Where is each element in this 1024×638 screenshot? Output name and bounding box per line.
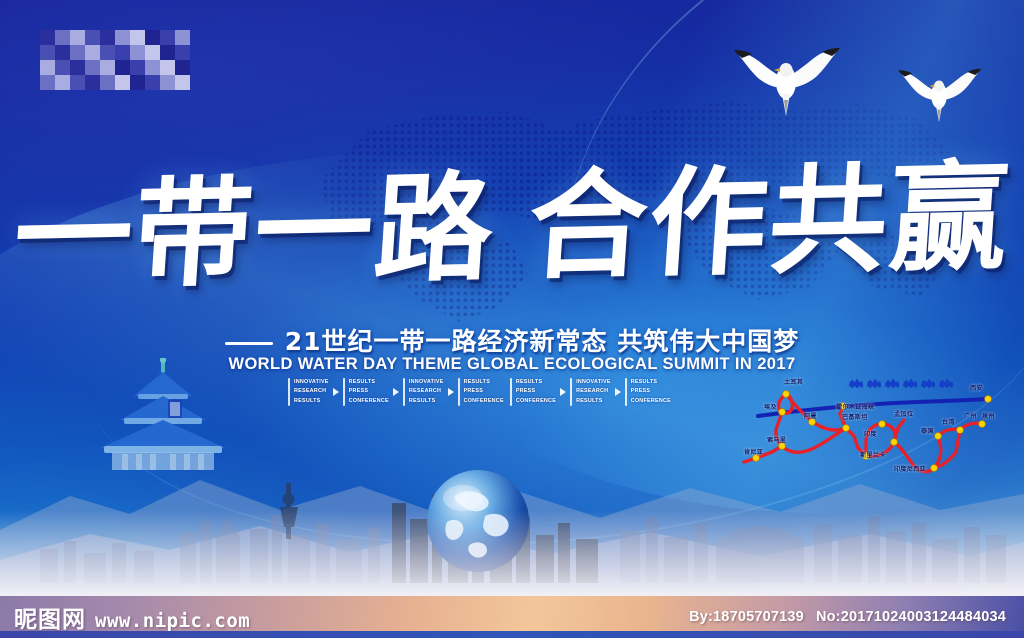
camel-caravan-icon xyxy=(848,378,953,388)
map-city-label: 埃及 xyxy=(764,402,777,411)
map-city-label: 泰国 xyxy=(921,426,934,435)
mosaic-tile xyxy=(40,30,55,45)
chip-bar xyxy=(570,378,572,406)
chip-label: RESULTSPRESSCONFERENCE xyxy=(516,378,556,406)
seagull-icon xyxy=(730,48,842,120)
process-chip: RESULTSPRESSCONFERENCE xyxy=(458,378,504,406)
mosaic-tile xyxy=(115,75,130,90)
chip-label-line: RESULTS xyxy=(516,378,556,387)
footer-watermark-bar: 昵图网 www.nipic.com By:18705707139 No:2017… xyxy=(0,596,1024,638)
mosaic-tile xyxy=(40,45,55,60)
mosaic-tile xyxy=(55,45,70,60)
chip-arrow-icon xyxy=(389,388,403,396)
chip-bar xyxy=(510,378,512,406)
mosaic-tile xyxy=(40,60,55,75)
mosaic-tile xyxy=(175,30,190,45)
chip-label-line: PRESS xyxy=(516,387,556,396)
subtitle-dash xyxy=(225,342,273,345)
map-city-label: 肯尼亚 xyxy=(744,447,763,456)
credit-by: By:18705707139 xyxy=(689,609,804,625)
process-chip: RESULTSPRESSCONFERENCE xyxy=(510,378,556,406)
mosaic-tile xyxy=(70,30,85,45)
page-title: 一带一路合作共赢 xyxy=(0,157,1024,296)
process-chip: RESULTSPRESSCONFERENCE xyxy=(343,378,389,406)
watermark-cn-text: 昵图网 xyxy=(14,600,86,634)
globe-illustration xyxy=(425,468,531,574)
process-chip: INNOVATIVERESEARCHRESULTS xyxy=(403,378,444,406)
chip-label-line: RESULTS xyxy=(409,397,444,406)
mosaic-tile xyxy=(85,45,100,60)
process-chip-row: INNOVATIVERESEARCHRESULTSRESULTSPRESSCON… xyxy=(288,377,738,407)
credit-no: No:20171024003124484034 xyxy=(816,609,1006,625)
mosaic-tile xyxy=(70,60,85,75)
map-city-label: 土耳其 xyxy=(784,377,803,386)
chip-label-line: RESULTS xyxy=(576,397,611,406)
map-city-label: 索马里 xyxy=(767,435,786,444)
chip-label-line: CONFERENCE xyxy=(349,397,389,406)
chip-bar xyxy=(625,378,627,406)
silk-road-route-map: 土耳其埃及阿曼索马里肯尼亚霍尔木兹海峡巴基斯坦印度斯里兰卡孟加拉泰国印度尼西亚台… xyxy=(742,370,1024,480)
chip-label: RESULTSPRESSCONFERENCE xyxy=(464,378,504,406)
chip-label-line: RESULTS xyxy=(294,397,329,406)
mosaic-tile xyxy=(40,75,55,90)
pixelated-logo-block xyxy=(40,30,190,90)
temple-of-heaven-illustration xyxy=(78,358,248,480)
mosaic-tile xyxy=(55,60,70,75)
mosaic-tile xyxy=(145,75,160,90)
mosaic-tile xyxy=(115,30,130,45)
map-city-label: 孟加拉 xyxy=(894,409,913,418)
chip-label-line: RESEARCH xyxy=(576,387,611,396)
chip-label: RESULTSPRESSCONFERENCE xyxy=(631,378,671,406)
mosaic-tile xyxy=(160,60,175,75)
chip-label-line: INNOVATIVE xyxy=(409,378,444,387)
map-city-label: 巴基斯坦 xyxy=(842,412,868,421)
chip-arrow-icon xyxy=(329,388,343,396)
site-watermark: 昵图网 www.nipic.com xyxy=(14,600,250,634)
subtitle-chinese-text: 21世纪一带一路经济新常态 共筑伟大中国梦 xyxy=(285,327,800,356)
map-city-label: 广州 xyxy=(964,411,977,420)
mosaic-tile xyxy=(160,30,175,45)
chip-arrow-icon xyxy=(444,388,458,396)
chip-label-line: RESULTS xyxy=(631,378,671,387)
chip-label-line: RESEARCH xyxy=(294,387,329,396)
mosaic-tile xyxy=(130,30,145,45)
chip-label-line: CONFERENCE xyxy=(631,397,671,406)
chip-label-line: PRESS xyxy=(631,387,671,396)
orbit-ring-arc xyxy=(499,0,1024,638)
subtitle-chinese: 21世纪一带一路经济新常态 共筑伟大中国梦 xyxy=(0,322,1024,358)
mosaic-tile xyxy=(130,75,145,90)
chip-label-line: INNOVATIVE xyxy=(576,378,611,387)
chip-label-line: PRESS xyxy=(464,387,504,396)
headline-part-1: 一带一路 xyxy=(10,158,500,306)
chip-bar xyxy=(458,378,460,406)
mosaic-tile xyxy=(70,75,85,90)
mosaic-tile xyxy=(160,75,175,90)
chip-arrow-icon xyxy=(611,388,625,396)
mosaic-tile xyxy=(85,75,100,90)
mosaic-tile xyxy=(145,60,160,75)
mosaic-tile xyxy=(100,60,115,75)
process-chip: INNOVATIVERESEARCHRESULTS xyxy=(570,378,611,406)
chip-label: RESULTSPRESSCONFERENCE xyxy=(349,378,389,406)
process-chip: INNOVATIVERESEARCHRESULTS xyxy=(288,378,329,406)
seagull-icon xyxy=(895,68,983,126)
chip-label-line: INNOVATIVE xyxy=(294,378,329,387)
watermark-url-text: www.nipic.com xyxy=(95,610,250,632)
chip-label: INNOVATIVERESEARCHRESULTS xyxy=(576,378,611,406)
chip-label-line: CONFERENCE xyxy=(464,397,504,406)
mosaic-tile xyxy=(55,75,70,90)
chip-bar xyxy=(403,378,405,406)
map-city-label: 印度 xyxy=(864,429,877,438)
mosaic-tile xyxy=(130,45,145,60)
chip-label-line: PRESS xyxy=(349,387,389,396)
map-city-label: 阿曼 xyxy=(804,411,817,420)
map-city-label: 印度尼西亚 xyxy=(894,464,926,473)
mosaic-tile xyxy=(145,30,160,45)
chip-label-line: RESEARCH xyxy=(409,387,444,396)
chip-bar xyxy=(343,378,345,406)
map-city-label: 斯里兰卡 xyxy=(860,450,886,459)
chip-label: INNOVATIVERESEARCHRESULTS xyxy=(409,378,444,406)
mosaic-tile xyxy=(100,75,115,90)
mosaic-tile xyxy=(55,30,70,45)
mosaic-tile xyxy=(175,45,190,60)
mosaic-tile xyxy=(115,60,130,75)
map-city-label: 西安 xyxy=(970,383,983,392)
mosaic-tile xyxy=(70,45,85,60)
chip-label-line: CONFERENCE xyxy=(516,397,556,406)
headline-part-2: 合作共赢 xyxy=(524,148,1014,296)
map-city-label: 泉州 xyxy=(982,411,995,420)
credit-info: By:18705707139 No:20171024003124484034 xyxy=(689,609,1006,625)
mosaic-tile xyxy=(100,45,115,60)
mosaic-tile xyxy=(145,45,160,60)
mosaic-tile xyxy=(115,45,130,60)
mosaic-tile xyxy=(175,75,190,90)
mosaic-tile xyxy=(175,60,190,75)
mosaic-tile xyxy=(100,30,115,45)
chip-bar xyxy=(288,378,290,406)
map-city-label: 台湾 xyxy=(942,417,955,426)
mosaic-tile xyxy=(160,45,175,60)
map-city-label: 霍尔木兹海峡 xyxy=(836,402,874,411)
mosaic-tile xyxy=(85,60,100,75)
chip-arrow-icon xyxy=(556,388,570,396)
poster-canvas: 一带一路合作共赢 21世纪一带一路经济新常态 共筑伟大中国梦 WORLD WAT… xyxy=(0,0,1024,638)
chip-label-line: RESULTS xyxy=(349,378,389,387)
chip-label: INNOVATIVERESEARCHRESULTS xyxy=(294,378,329,406)
chip-label-line: RESULTS xyxy=(464,378,504,387)
process-chip: RESULTSPRESSCONFERENCE xyxy=(625,378,671,406)
mosaic-tile xyxy=(85,30,100,45)
mosaic-tile xyxy=(130,60,145,75)
